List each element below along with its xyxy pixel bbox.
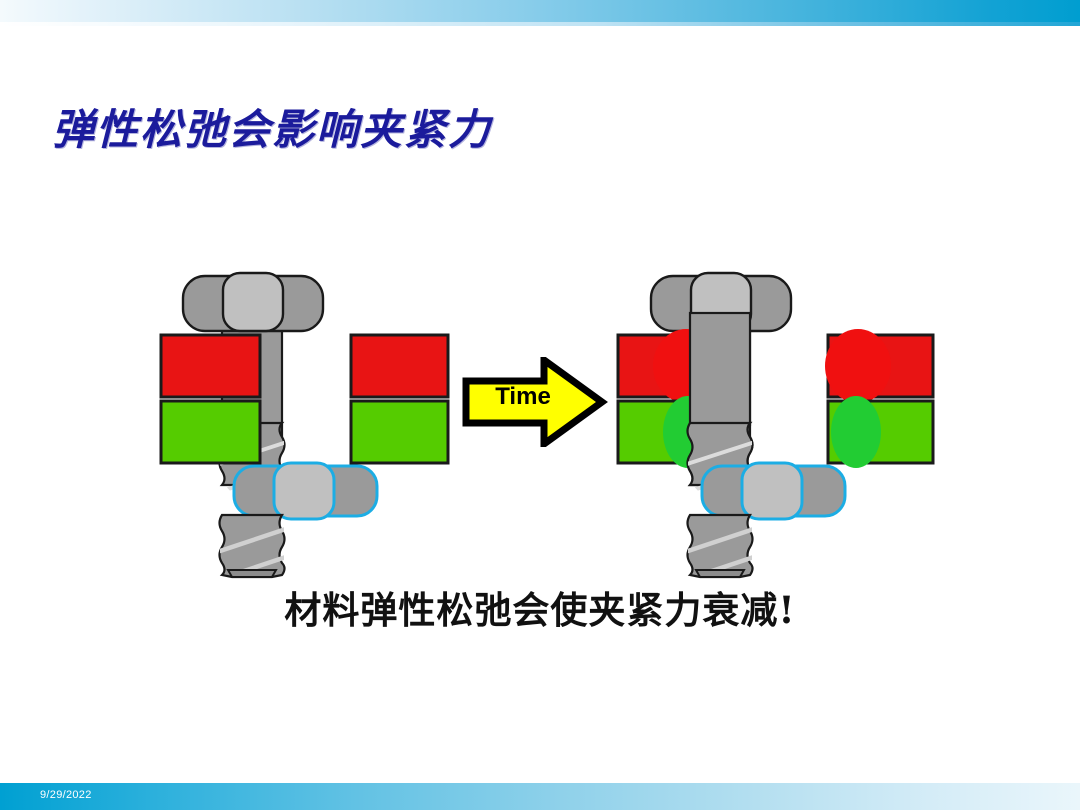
time-arrow-icon: [458, 357, 608, 447]
top-banner-edge: [0, 22, 1080, 26]
plate-red-right: [351, 335, 448, 397]
bolt-head: [183, 273, 323, 331]
page-title: 弹性松弛会影响夹紧力: [52, 96, 492, 157]
slide-canvas: 弹性松弛会影响夹紧力: [0, 0, 1080, 810]
nut: [234, 463, 377, 519]
plate-green-right: [351, 401, 448, 463]
bolt-assembly-after: [610, 265, 950, 585]
bolt-assembly-before: [150, 265, 470, 585]
bottom-bar-gradient: [0, 783, 1080, 810]
caption-text: 材料弹性松弛会使夹紧力衰减!: [0, 580, 1080, 634]
bolt-thread-lower: [214, 515, 292, 581]
top-banner-gradient: [0, 0, 1080, 22]
footer-date: 9/29/2022: [40, 789, 92, 801]
plate-green-right: [828, 396, 933, 468]
plate-green-left: [161, 401, 260, 463]
nut: [702, 463, 845, 519]
bolt-thread-lower: [682, 515, 760, 581]
plate-red-right: [825, 329, 933, 403]
plate-red-left: [161, 335, 260, 397]
